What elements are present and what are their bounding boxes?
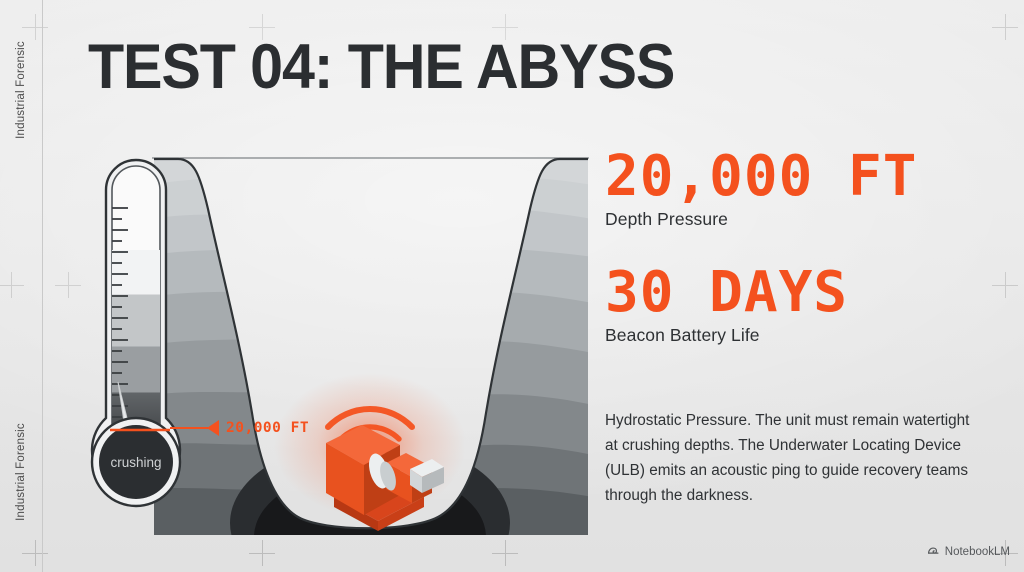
stat-battery-life: 30 DAYS Beacon Battery Life bbox=[605, 264, 1005, 346]
stat-depth-pressure-value: 20,000 FT bbox=[605, 148, 1005, 207]
notebooklm-logo-icon bbox=[927, 544, 940, 560]
left-rail: Industrial Forensic Industrial Forensic bbox=[0, 0, 43, 572]
depth-callout-label: 20,000 FT bbox=[226, 420, 309, 436]
stat-battery-life-label: Beacon Battery Life bbox=[605, 325, 1005, 346]
depth-callout: 20,000 FT bbox=[170, 420, 309, 436]
crosshair-mark bbox=[992, 14, 1018, 40]
rail-label-bottom: Industrial Forensic bbox=[15, 423, 27, 521]
trench-illustration bbox=[148, 145, 593, 540]
body-paragraph: Hydrostatic Pressure. The unit must rema… bbox=[605, 408, 977, 508]
page-title: TEST 04: THE ABYSS bbox=[88, 36, 674, 99]
stats-column: 20,000 FT Depth Pressure 30 DAYS Beacon … bbox=[605, 148, 1005, 356]
stat-battery-life-value: 30 DAYS bbox=[605, 264, 1005, 323]
depth-callout-line bbox=[170, 427, 208, 429]
triangle-left-icon bbox=[207, 420, 219, 436]
thermometer-bulb-label: crushing bbox=[110, 455, 161, 470]
stat-depth-pressure-label: Depth Pressure bbox=[605, 209, 1005, 230]
thermometer-illustration: crushing bbox=[78, 150, 198, 535]
crosshair-mark bbox=[492, 540, 518, 566]
notebooklm-watermark-label: NotebookLM bbox=[945, 546, 1010, 558]
rail-label-top: Industrial Forensic bbox=[15, 41, 27, 139]
notebooklm-watermark: NotebookLM bbox=[927, 544, 1010, 560]
stat-depth-pressure: 20,000 FT Depth Pressure bbox=[605, 148, 1005, 230]
infographic-canvas: Industrial Forensic Industrial Forensic … bbox=[0, 0, 1024, 572]
crosshair-mark bbox=[249, 540, 275, 566]
